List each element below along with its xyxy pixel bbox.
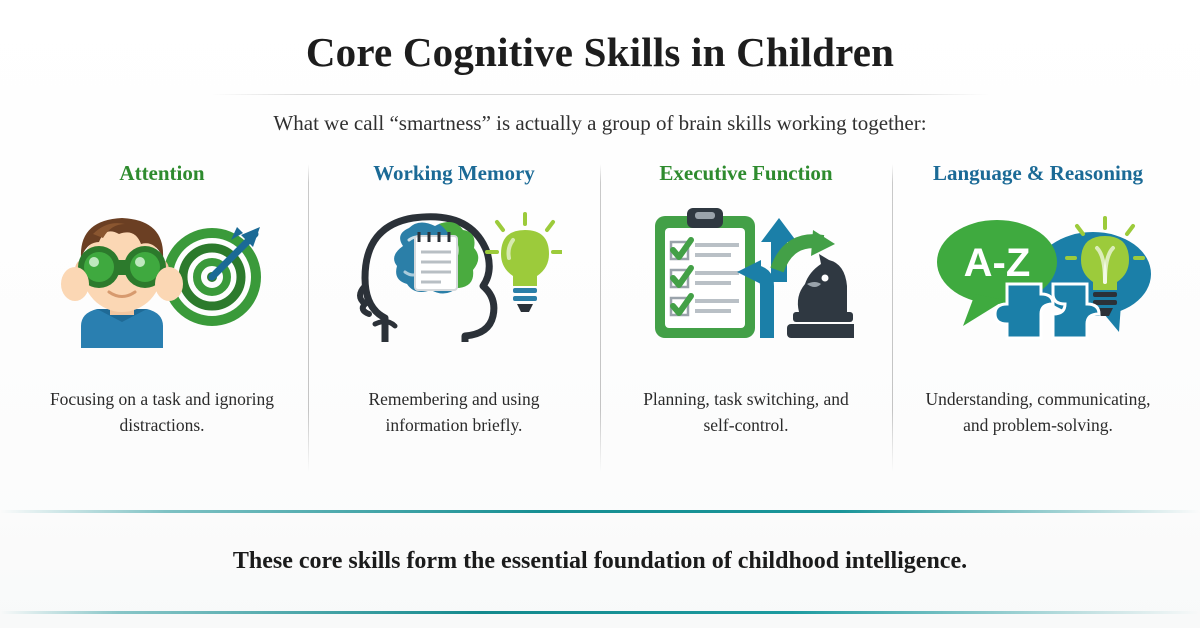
- skill-caption-working-memory: Remembering and using information briefl…: [334, 387, 574, 438]
- page-title: Core Cognitive Skills in Children: [0, 30, 1200, 75]
- infographic-poster: Core Cognitive Skills in Children What w…: [0, 0, 1200, 628]
- head-brain-notepad-lightbulb-illustration: [320, 199, 588, 349]
- footer: These core skills form the essential fou…: [0, 510, 1200, 628]
- clipboard-arrows-chess-knight-illustration: [612, 199, 880, 349]
- skill-column-executive-function: Executive Function: [600, 162, 892, 510]
- footer-text: These core skills form the essential fou…: [233, 548, 967, 591]
- footer-bottom-divider: [0, 611, 1200, 614]
- skill-heading-working-memory: Working Memory: [373, 162, 535, 185]
- skill-heading-language-reasoning: Language & Reasoning: [933, 162, 1143, 185]
- page-subtitle: What we call “smartness” is actually a g…: [0, 111, 1200, 136]
- header: Core Cognitive Skills in Children What w…: [0, 0, 1200, 136]
- title-divider: [210, 94, 990, 95]
- skill-column-language-reasoning: Language & Reasoning A-Z: [892, 162, 1184, 510]
- skill-column-attention: Attention: [16, 162, 308, 510]
- skill-caption-language-reasoning: Understanding, communicating, and proble…: [918, 387, 1158, 438]
- footer-top-divider: [0, 510, 1200, 513]
- skill-caption-attention: Focusing on a task and ignoring distract…: [42, 387, 282, 438]
- alphabet-bubble-label: A-Z: [964, 241, 1031, 285]
- skills-columns: Attention: [0, 162, 1200, 510]
- skill-heading-executive-function: Executive Function: [659, 162, 832, 185]
- child-binoculars-target-illustration: [28, 199, 296, 349]
- skill-caption-executive-function: Planning, task switching, and self-contr…: [626, 387, 866, 438]
- speech-bubble-puzzle-lightbulb-illustration: A-Z: [904, 199, 1172, 349]
- skill-heading-attention: Attention: [119, 162, 204, 185]
- skill-column-working-memory: Working Memory: [308, 162, 600, 510]
